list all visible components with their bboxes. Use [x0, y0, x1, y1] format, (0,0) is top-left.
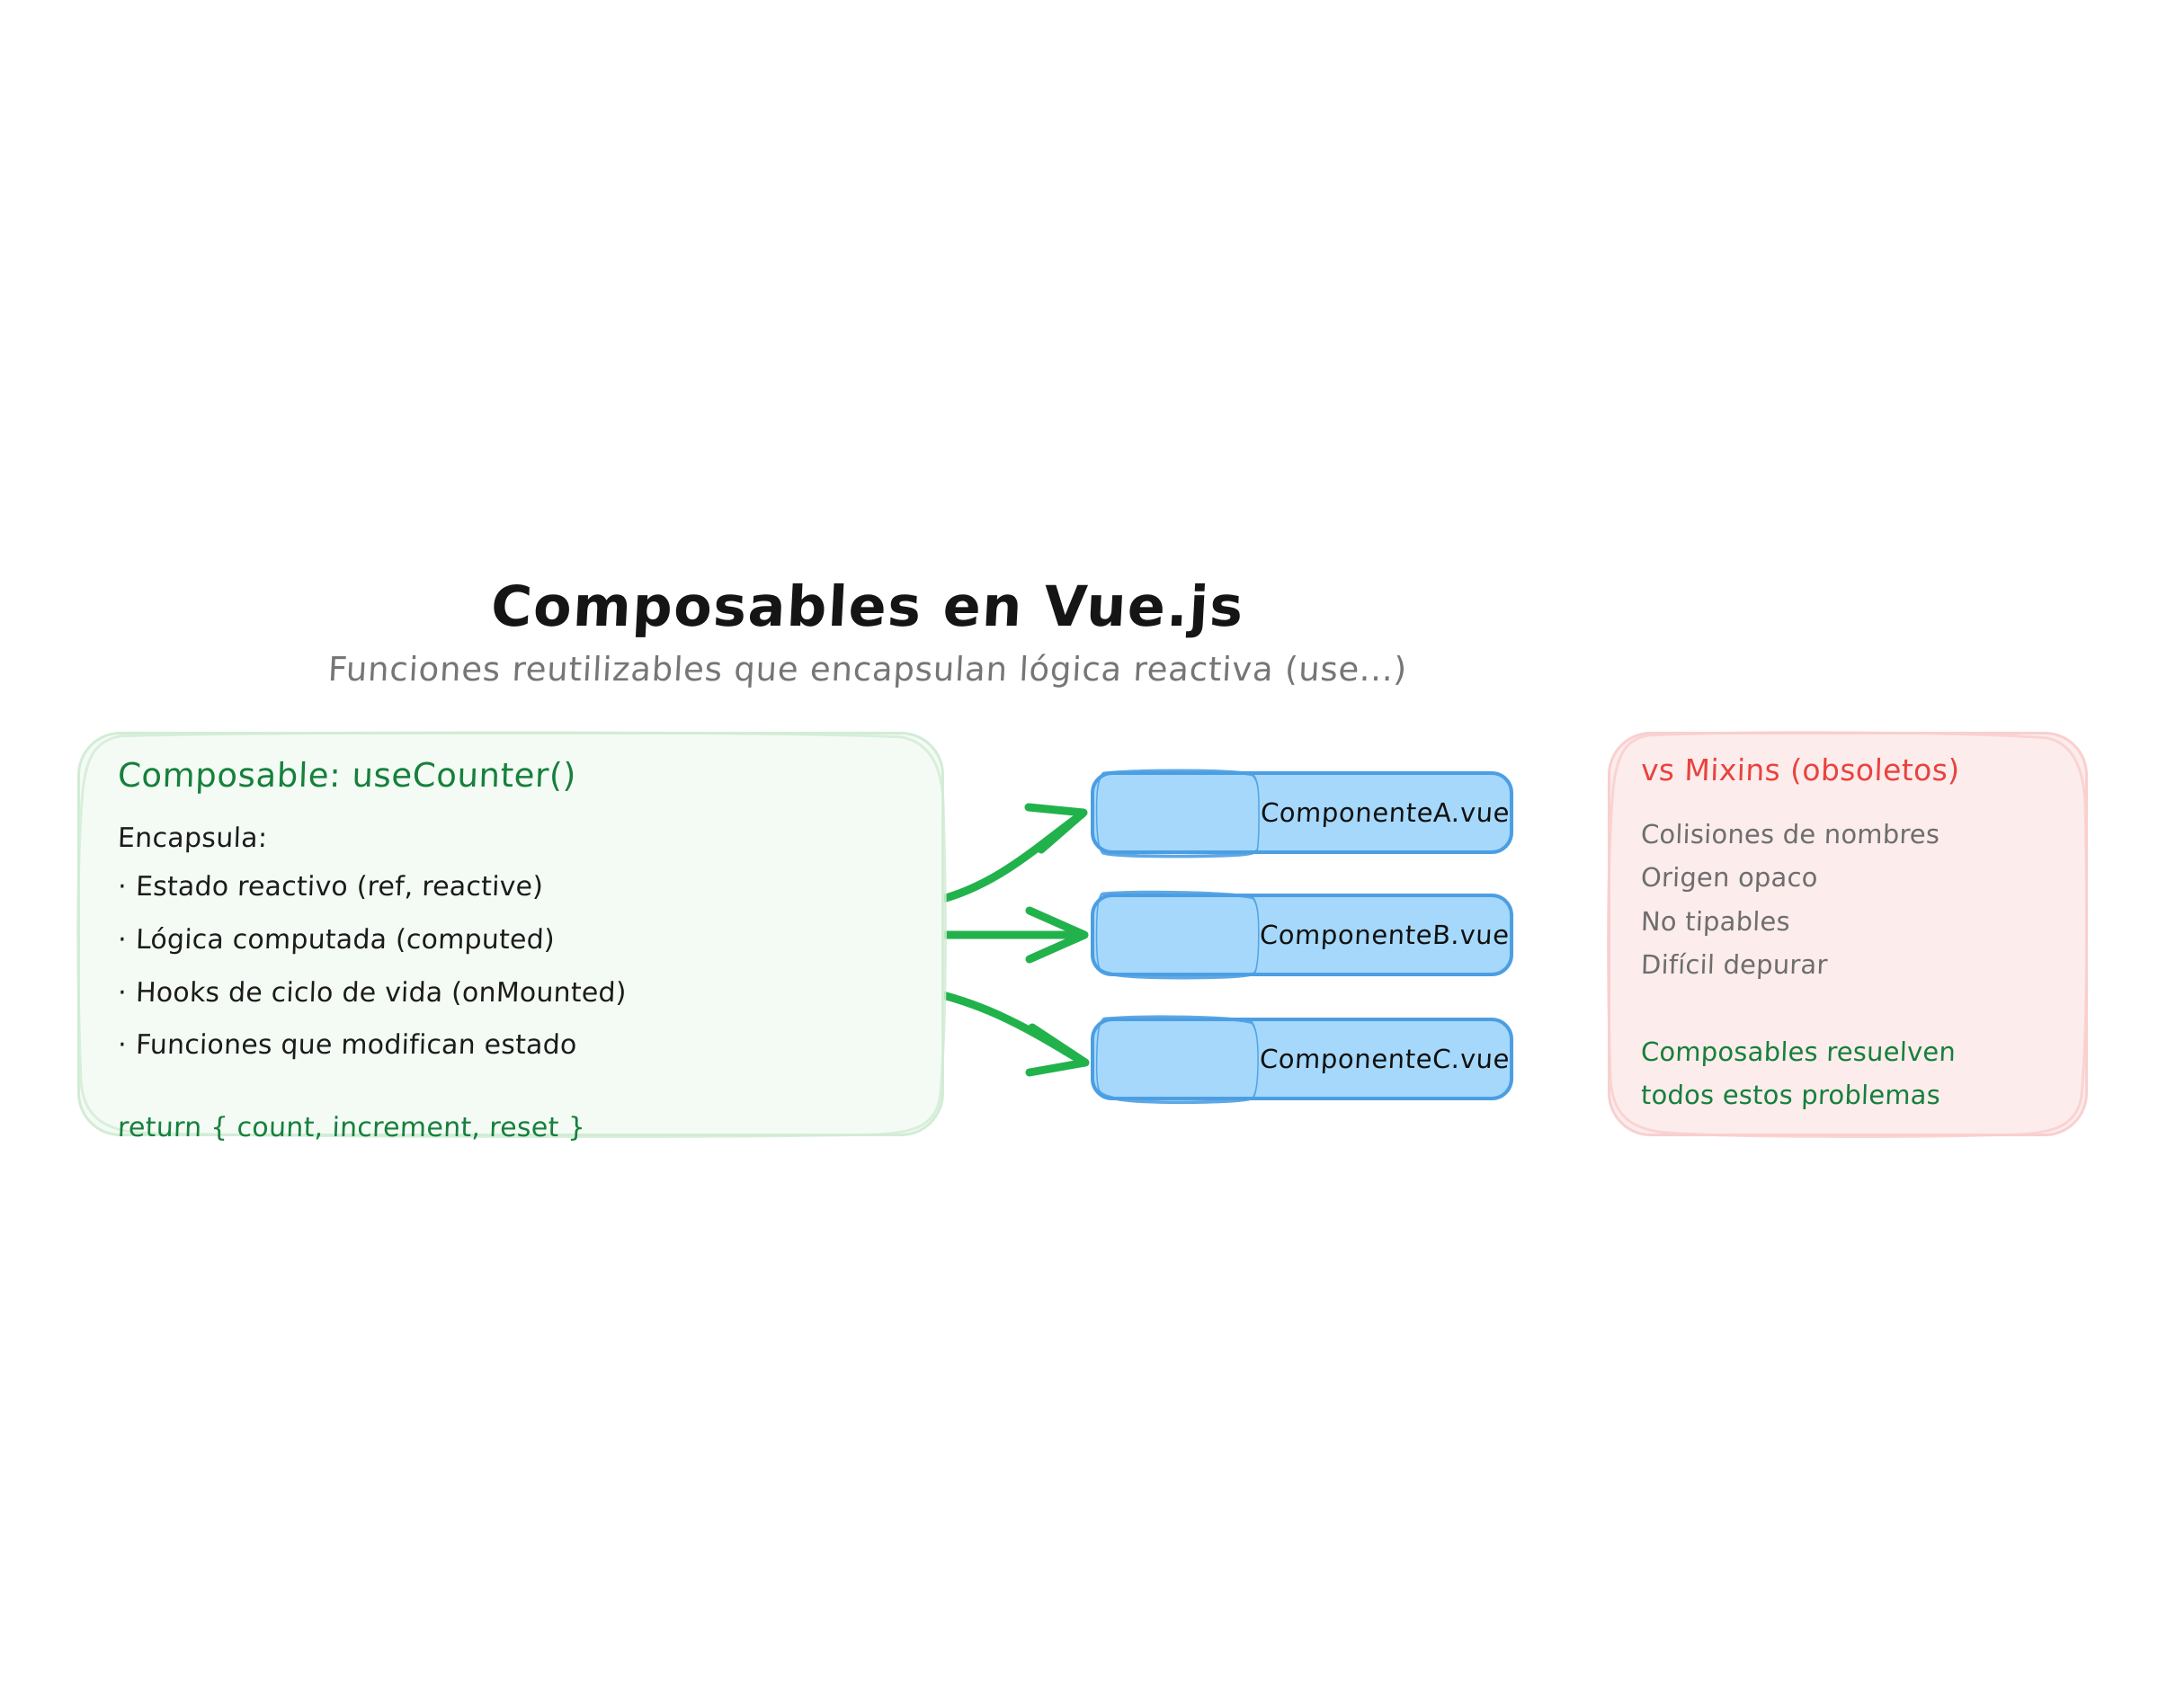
diagram-header: Composables en Vue.js Funciones reutiliz…: [0, 575, 1735, 689]
list-item: ·Lógica computada (computed): [117, 914, 915, 967]
component-label: ComponenteC.vue: [1259, 1044, 1511, 1074]
composable-bullet-list: ·Estado reactivo (ref, reactive) ·Lógica…: [118, 861, 914, 1072]
page-subtitle: Funciones reutilizables que encapsulan l…: [0, 650, 1736, 689]
composable-heading: Composable: useCounter(): [117, 754, 915, 797]
component-box-sketch-outline: [1094, 767, 1261, 858]
list-item-label: Hooks de ciclo de vida (onMounted): [135, 977, 627, 1009]
arrow-to-componenteA: [936, 807, 1083, 901]
arrow-to-componenteC: [936, 993, 1085, 1072]
component-box-sketch-outline: [1094, 1013, 1260, 1105]
bullet-marker: ·: [117, 1019, 137, 1072]
resolution-line: Composables resuelven: [1640, 1030, 2070, 1073]
bullet-marker: ·: [117, 967, 137, 1020]
resolution-line: todos estos problemas: [1640, 1073, 2070, 1116]
list-item: Difícil depurar: [1640, 943, 2070, 986]
component-label: ComponenteB.vue: [1259, 920, 1510, 950]
composable-card: Composable: useCounter() Encapsula: ·Est…: [77, 732, 944, 1136]
component-box-componenteA[interactable]: ComponenteA.vue: [1091, 771, 1513, 854]
encapsula-label: Encapsula:: [117, 823, 914, 854]
arrow-to-componenteB: [933, 911, 1084, 959]
component-box-componenteC[interactable]: ComponenteC.vue: [1091, 1018, 1513, 1100]
list-item: ·Hooks de ciclo de vida (onMounted): [117, 967, 915, 1020]
mixins-card: vs Mixins (obsoletos) Colisiones de nomb…: [1608, 732, 2088, 1136]
list-item: ·Estado reactivo (ref, reactive): [117, 861, 915, 914]
bullet-marker: ·: [117, 914, 137, 967]
component-label: ComponenteA.vue: [1260, 797, 1511, 828]
list-item: Colisiones de nombres: [1640, 813, 2070, 856]
list-item: ·Funciones que modifican estado: [117, 1019, 915, 1072]
mixins-resolution: Composables resuelven todos estos proble…: [1641, 1030, 2069, 1117]
list-item-label: Funciones que modifican estado: [135, 1029, 577, 1061]
list-item-label: Estado reactivo (ref, reactive): [135, 871, 543, 903]
list-item-label: Lógica computada (computed): [135, 924, 555, 956]
mixins-problem-list: Colisiones de nombres Origen opaco No ti…: [1641, 813, 2069, 987]
component-box-componenteB[interactable]: ComponenteB.vue: [1091, 894, 1513, 976]
composable-return-line: return { count, increment, reset }: [117, 1112, 914, 1143]
list-item: No tipables: [1640, 900, 2070, 943]
mixins-heading: vs Mixins (obsoletos): [1640, 752, 2069, 787]
bullet-marker: ·: [117, 861, 137, 914]
list-item: Origen opaco: [1640, 856, 2070, 899]
component-box-sketch-outline: [1094, 889, 1260, 981]
page-title: Composables en Vue.js: [0, 575, 1737, 637]
